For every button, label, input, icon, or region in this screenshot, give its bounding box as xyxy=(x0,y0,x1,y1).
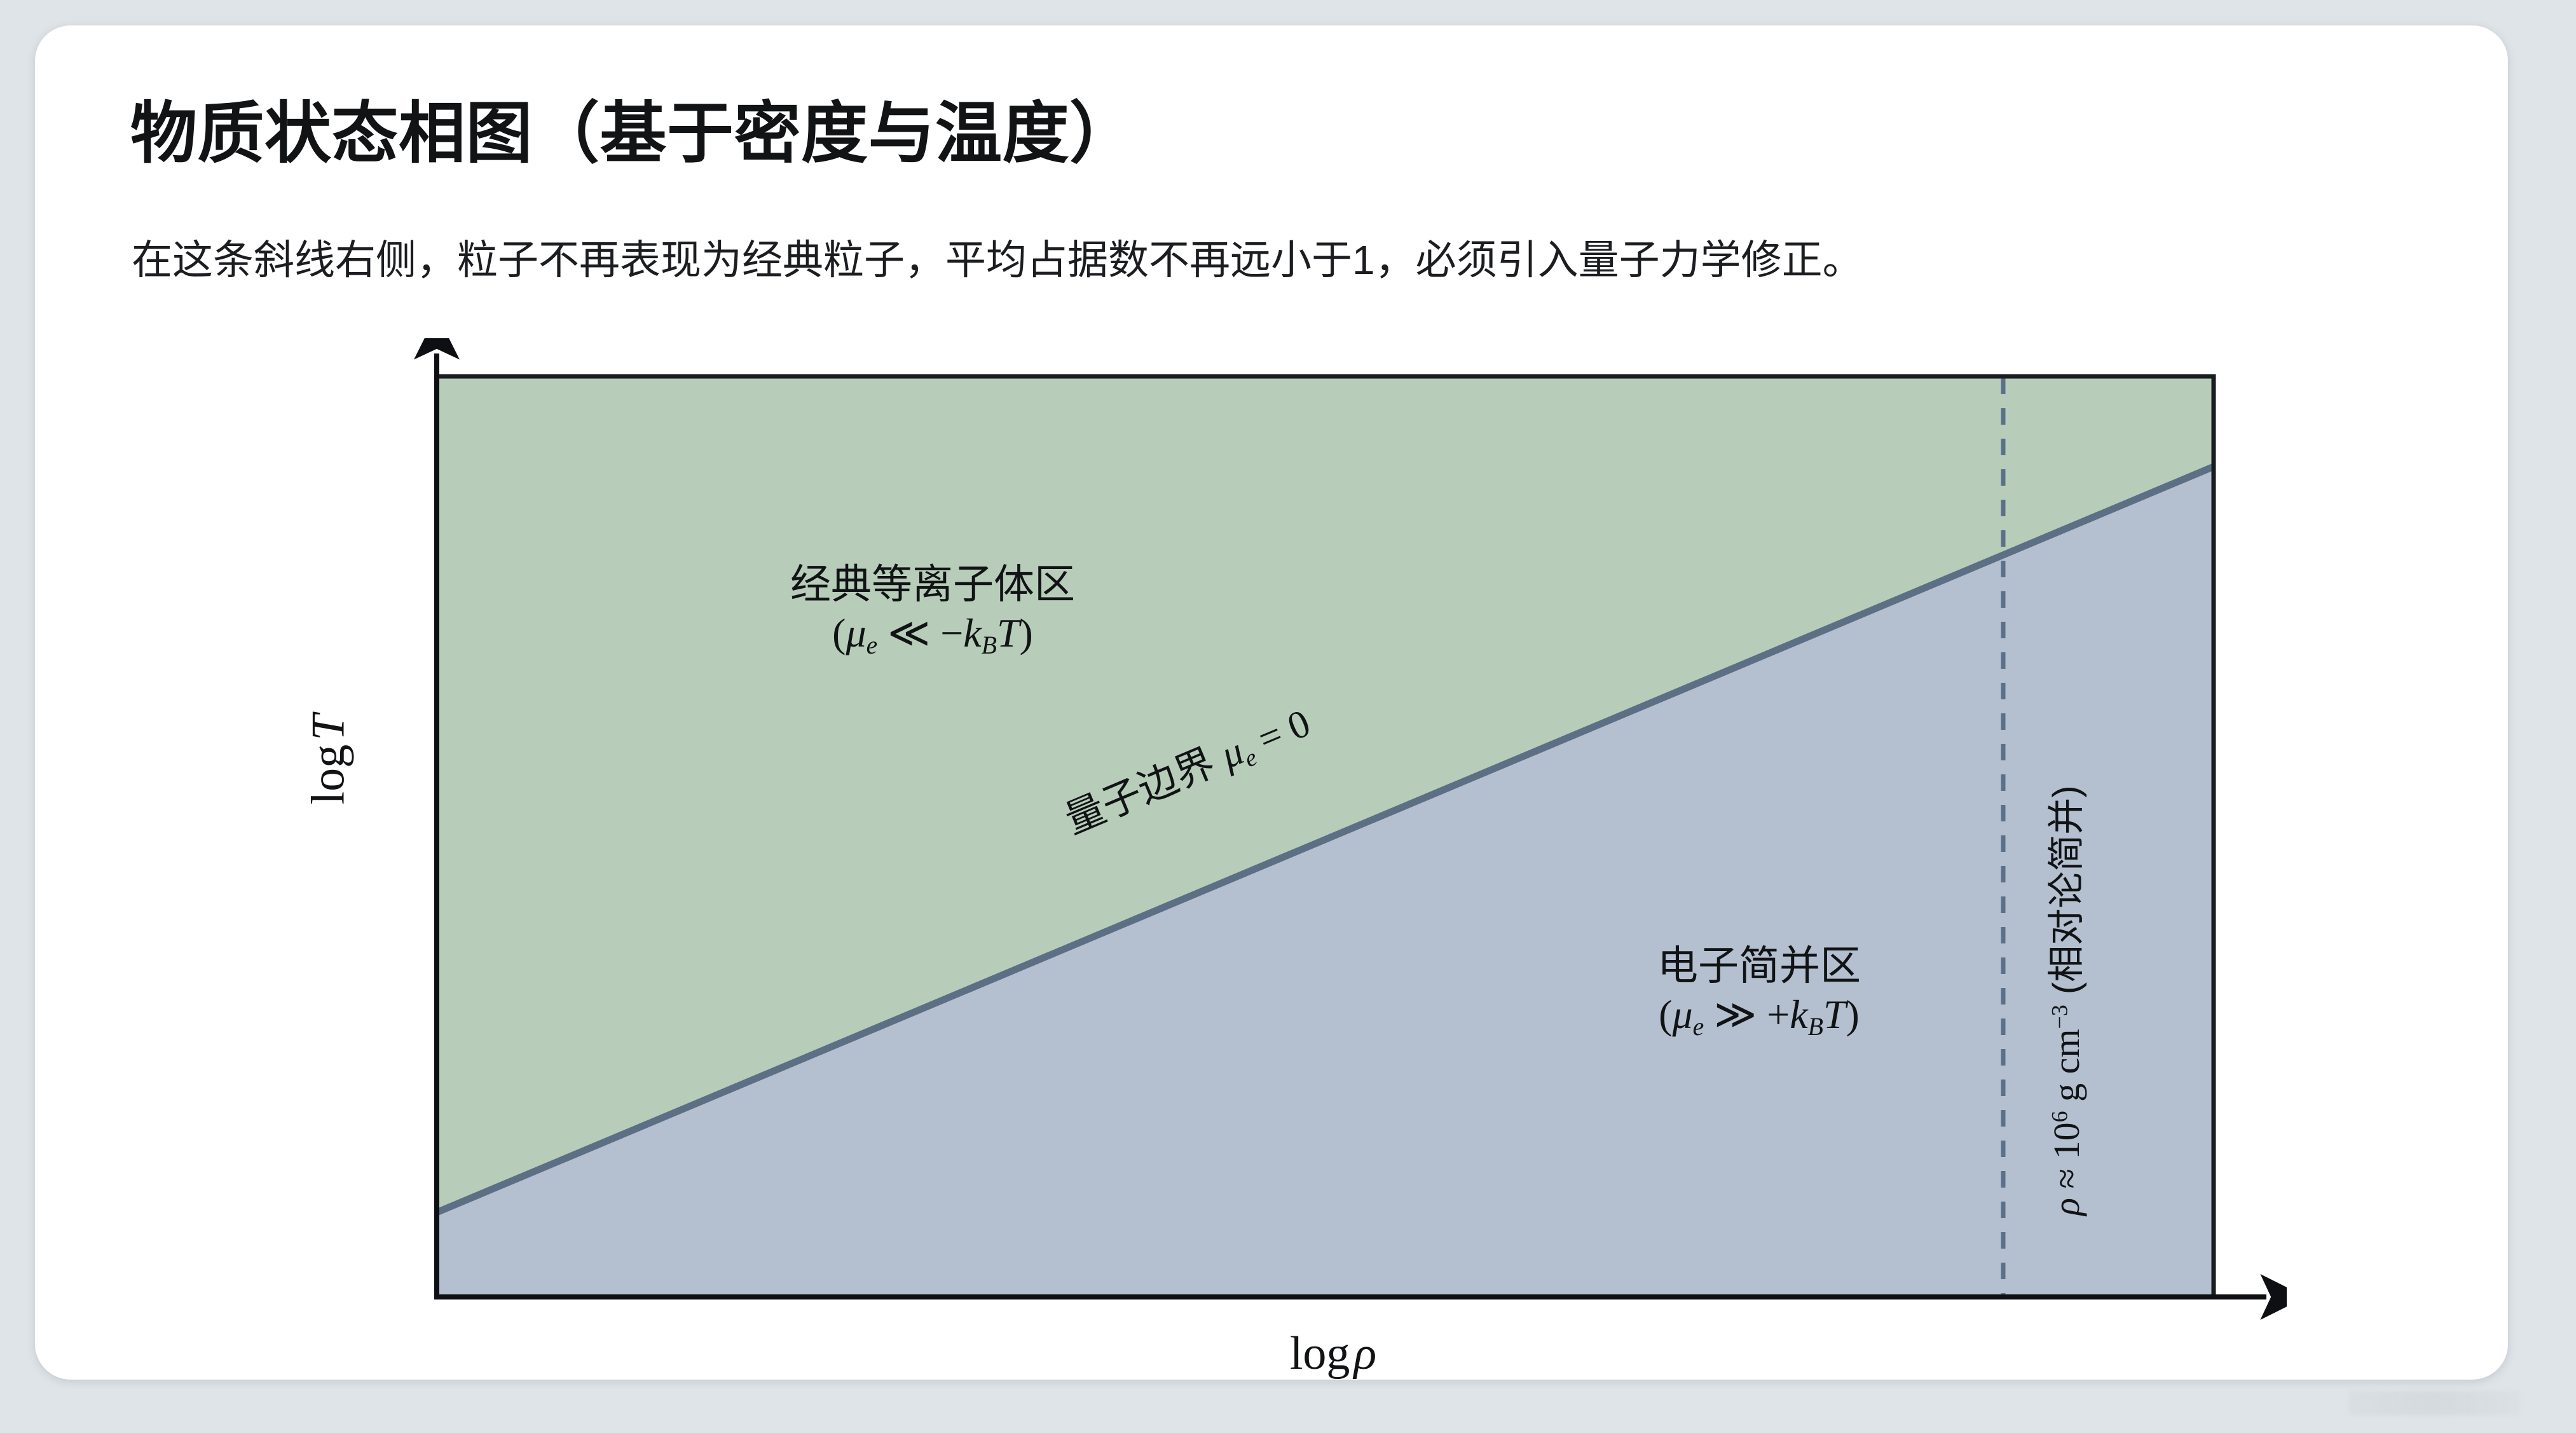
y-axis-label: log T xyxy=(302,633,356,887)
content-card: 物质状态相图（基于密度与温度） 在这条斜线右侧，粒子不再表现为经典粒子，平均占据… xyxy=(35,25,2508,1380)
page-title: 物质状态相图（基于密度与温度） xyxy=(130,79,1137,176)
page-subtitle: 在这条斜线右侧，粒子不再表现为经典粒子，平均占据数不再远小于1，必须引入量子力学… xyxy=(132,228,1863,286)
relativistic-degeneracy-label: ρ ≈ 106 g cm−3 (相对论简并) xyxy=(2036,785,2090,1216)
electron-degenerate-region-label: 电子简并区 (μe ≫ +kBT) xyxy=(1556,942,1963,1041)
electron-degenerate-label-line1: 电子简并区 xyxy=(1556,942,1963,991)
electron-degenerate-label-line2: (μe ≫ +kBT) xyxy=(1556,991,1963,1042)
phase-diagram-svg xyxy=(367,338,2287,1368)
phase-diagram: 经典等离子体区 (μe ≪ −kBT) 电子简并区 (μe ≫ +kBT) 量子… xyxy=(437,376,2214,1297)
x-axis-label: log ρ xyxy=(1206,1327,1460,1381)
watermark xyxy=(2349,1391,2521,1415)
screenshot-root: 物质状态相图（基于密度与温度） 在这条斜线右侧，粒子不再表现为经典粒子，平均占据… xyxy=(0,0,2576,1433)
classical-plasma-label-line1: 经典等离子体区 xyxy=(729,561,1136,609)
classical-plasma-region-label: 经典等离子体区 (μe ≪ −kBT) xyxy=(729,561,1136,660)
classical-plasma-label-line2: (μe ≪ −kBT) xyxy=(729,609,1136,661)
